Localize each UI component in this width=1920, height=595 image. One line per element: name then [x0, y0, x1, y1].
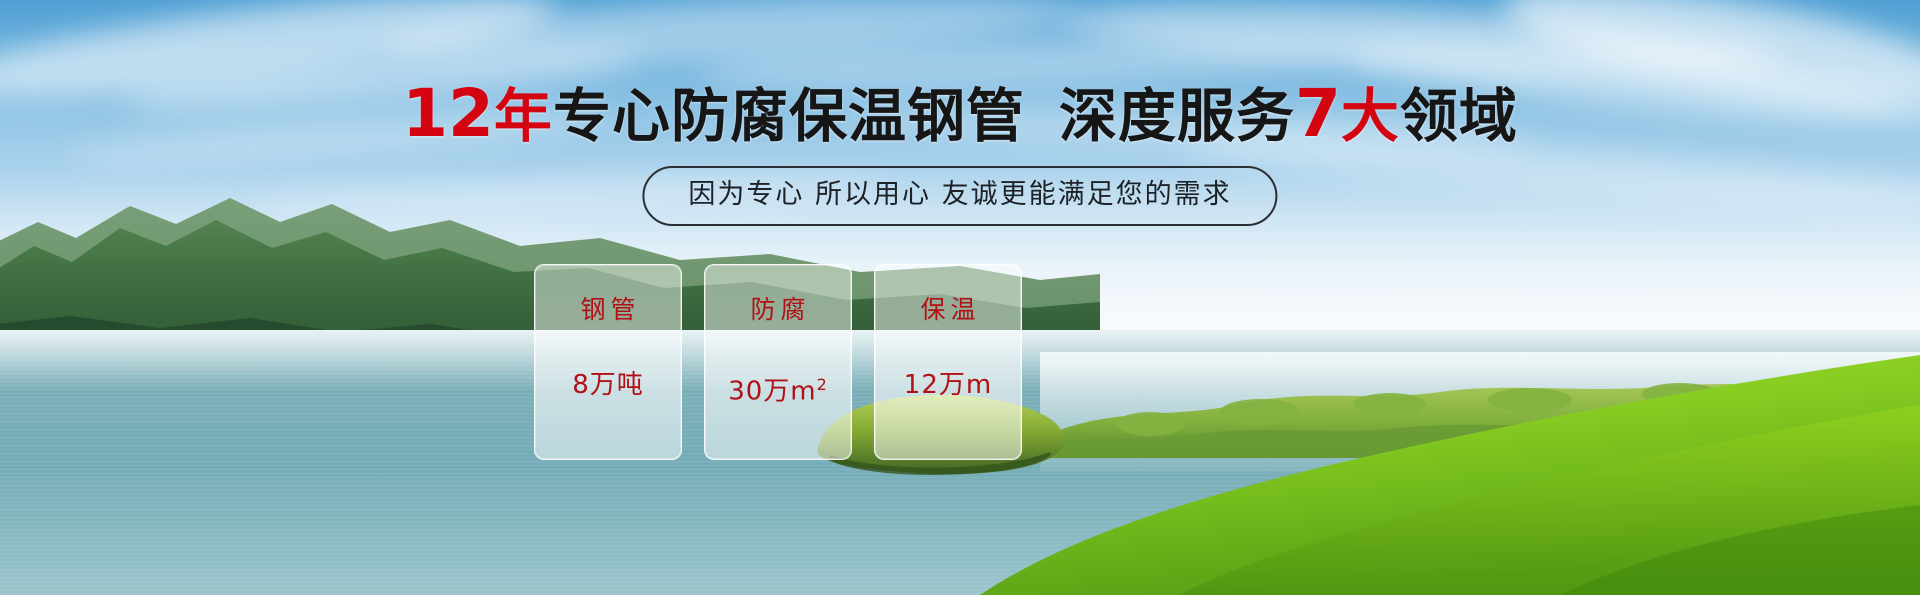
headline-fields-text: 领域: [1400, 82, 1518, 150]
stat-card-steel-pipe[interactable]: 钢管 8万吨: [534, 264, 682, 460]
banner-stage: 12年专心防腐保温钢管深度服务7大领域 因为专心 所以用心 友诚更能满足您的需求…: [0, 0, 1920, 595]
stat-card-label: 保温: [915, 295, 980, 325]
stat-card-label: 钢管: [575, 295, 640, 325]
stat-card-anticorrosion[interactable]: 防腐 30万m2: [704, 264, 852, 460]
stat-card-value-main: 12万m: [904, 370, 992, 400]
stat-card-value: 12万m: [904, 369, 992, 401]
headline-fields-number: 7: [1295, 75, 1341, 152]
stat-card-label: 防腐: [745, 295, 810, 325]
stat-card-value-main: 30万m: [728, 377, 816, 407]
headline-main-text: 专心防腐保温钢管: [553, 82, 1025, 150]
stat-card-value-superscript: 2: [817, 375, 828, 394]
headline-fields-unit: 大: [1341, 82, 1400, 150]
page-title: 12年专心防腐保温钢管深度服务7大领域: [0, 82, 1920, 148]
headline-years-unit: 年: [494, 82, 553, 150]
stat-card-value: 30万m2: [728, 369, 828, 408]
stat-cards: 钢管 8万吨 防腐 30万m2 保温 12万m: [534, 264, 1022, 460]
headline-service-text: 深度服务: [1059, 82, 1295, 150]
headline-years-number: 12: [402, 75, 494, 152]
stat-card-value-main: 8万吨: [572, 370, 644, 400]
stat-card-value: 8万吨: [572, 369, 644, 401]
subtitle-pill: 因为专心 所以用心 友诚更能满足您的需求: [642, 166, 1277, 226]
stat-card-insulation[interactable]: 保温 12万m: [874, 264, 1022, 460]
